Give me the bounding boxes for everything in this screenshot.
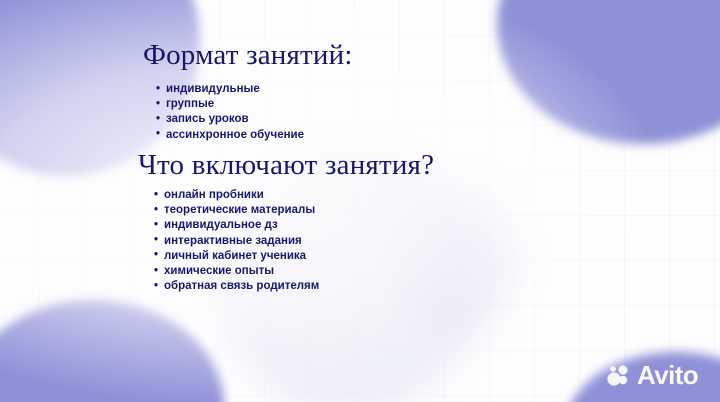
avito-dots-logo-icon bbox=[606, 364, 632, 386]
list-item: онлайн пробники bbox=[154, 188, 319, 203]
list-item: запись уроков bbox=[156, 112, 304, 127]
section-heading-includes: Что включают занятия? bbox=[138, 151, 434, 180]
section-heading-format: Формат занятий: bbox=[143, 41, 353, 70]
list-item: ассинхронное обучение bbox=[156, 128, 304, 143]
avito-watermark: Avito bbox=[606, 362, 698, 388]
list-item: личный кабинет ученика bbox=[154, 249, 319, 264]
list-item: группые bbox=[156, 97, 304, 112]
list-item: интерактивные задания bbox=[154, 234, 319, 249]
avito-watermark-text: Avito bbox=[637, 362, 698, 388]
includes-list: онлайн пробники теоретические материалы … bbox=[154, 188, 319, 294]
list-item: теоретические материалы bbox=[154, 203, 319, 218]
list-item: индивидуальное дз bbox=[154, 218, 319, 233]
list-item: химические опыты bbox=[154, 264, 319, 279]
format-list: индивидульные группые запись уроков асси… bbox=[156, 82, 304, 143]
slide-canvas: Формат занятий: индивидульные группые за… bbox=[0, 0, 720, 402]
list-item: индивидульные bbox=[156, 82, 304, 97]
slide-content: Формат занятий: индивидульные группые за… bbox=[0, 0, 720, 402]
list-item: обратная связь родителям bbox=[154, 279, 319, 294]
